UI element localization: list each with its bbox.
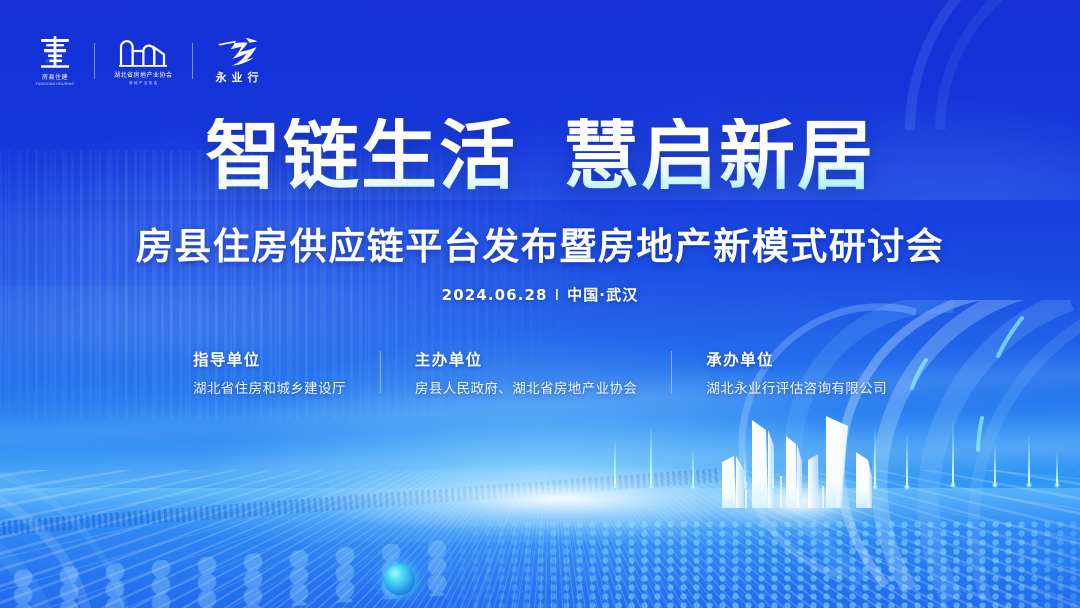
light-streak [692, 448, 694, 488]
page-title: 智链生活慧启新居 [0, 118, 1080, 194]
date-separator: I [555, 286, 561, 304]
light-streak [1028, 434, 1030, 486]
organizer-name: 湖北省住房和城乡建设厅 [193, 377, 346, 397]
light-streak [1056, 452, 1058, 486]
association-building-icon [118, 38, 168, 68]
light-streak [874, 426, 876, 488]
logo-divider [192, 43, 193, 79]
light-streak [614, 436, 616, 488]
light-streak [744, 452, 746, 488]
title-part-1: 智链生活 [205, 111, 517, 200]
logo-label-en: FANGXIAN HOUSING [36, 82, 75, 86]
logo-fangxian-housing: 房县住建 FANGXIAN HOUSING [35, 36, 75, 86]
organizer-block-guidance: 指导单位 湖北省住房和城乡建设厅 [159, 348, 380, 397]
logo-yongyehang: 永业行 [212, 38, 268, 85]
organizers-section: 指导单位 湖北省住房和城乡建设厅 主办单位 房县人民政府、湖北省房地产业协会 承… [0, 348, 1080, 397]
light-streak [952, 420, 954, 486]
logo-hubei-real-estate-association: 湖北省房地产业协会 房 地 产 业 协 会 [114, 38, 173, 85]
logo-label-cn: 永业行 [216, 69, 264, 85]
organizer-name: 房县人民政府、湖北省房地产业协会 [415, 377, 637, 397]
organizer-name: 湖北永业行评估咨询有限公司 [706, 377, 887, 397]
light-streak [650, 424, 652, 488]
organizer-block-undertaker: 承办单位 湖北永业行评估咨询有限公司 [672, 348, 921, 397]
yongyehang-yh-icon [212, 38, 268, 66]
light-streak [906, 432, 908, 488]
organizer-role: 指导单位 [193, 348, 346, 370]
event-location: 中国·武汉 [567, 286, 638, 304]
title-part-2: 慧启新居 [563, 111, 875, 200]
light-streak [772, 444, 774, 488]
logo-label-cn: 房县住建 [42, 72, 68, 81]
logo-bar: 房县住建 FANGXIAN HOUSING 湖北省房地产业协会 房 地 产 业 … [35, 34, 268, 88]
glowing-sphere [384, 564, 415, 595]
page-subtitle: 房县住房供应链平台发布暨房地产新模式研讨会 [0, 216, 1080, 270]
crystal-skyline [700, 404, 890, 514]
event-poster: 房县住建 FANGXIAN HOUSING 湖北省房地产业协会 房 地 产 业 … [0, 0, 1080, 608]
organizer-role: 承办单位 [706, 348, 887, 370]
logo-divider [94, 43, 95, 79]
logo-label-cn: 湖北省房地产业协会 [114, 70, 173, 79]
event-date: 2024.06.28 [442, 286, 548, 304]
date-location-line: 2024.06.28I中国·武汉 [0, 284, 1080, 305]
logo-label-en: 房 地 产 业 协 会 [129, 80, 157, 85]
light-streak [994, 442, 996, 486]
fangxian-housing-icon [35, 36, 75, 70]
organizer-block-host: 主办单位 房县人民政府、湖北省房地产业协会 [381, 348, 671, 397]
organizer-role: 主办单位 [415, 348, 637, 370]
